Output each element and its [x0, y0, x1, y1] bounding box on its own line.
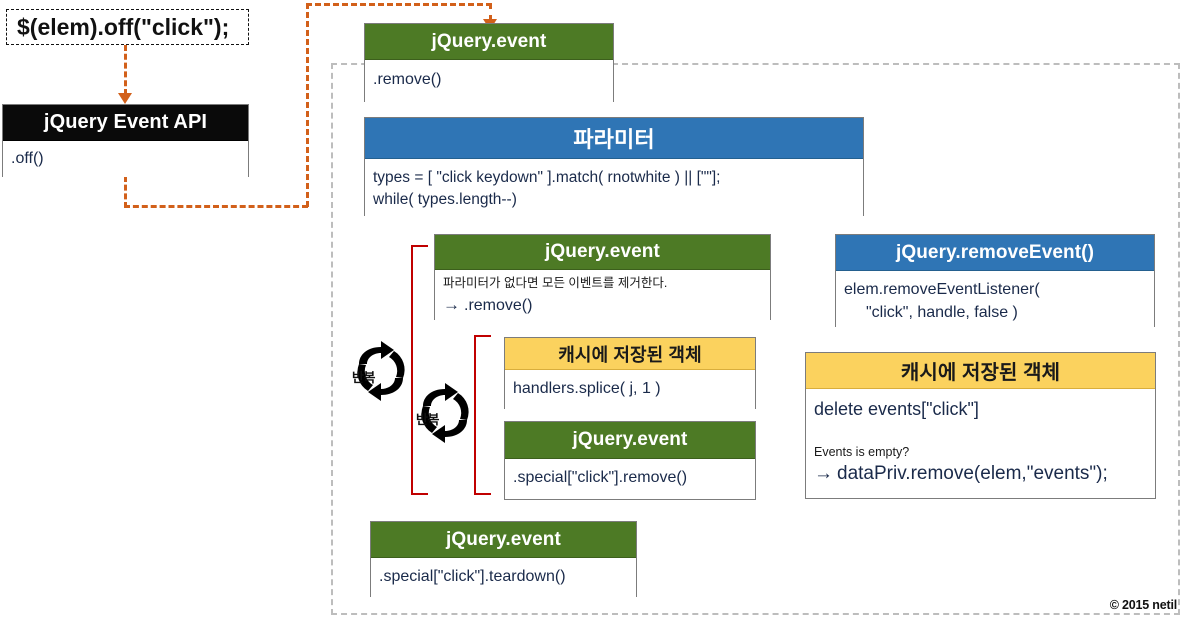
- card-jquery-event-api-title: jQuery Event API: [44, 111, 207, 134]
- card-event-special-remove: jQuery.event .special["click"].remove(): [504, 421, 756, 500]
- card-parameters-title: 파라미터: [573, 122, 654, 154]
- card-event-special-remove-header: jQuery.event: [505, 422, 755, 459]
- card-jquery-event-api-body-text: .off(): [11, 150, 44, 167]
- card-event-special-teardown-title: jQuery.event: [446, 529, 561, 551]
- connector-api-down: [124, 176, 127, 208]
- card-event-remove: jQuery.event .remove(): [364, 23, 614, 102]
- loop-label-outer: 반복: [352, 367, 375, 386]
- card-event-remove-body-text: .remove(): [373, 71, 441, 88]
- card-event-remove-body: .remove(): [365, 60, 613, 102]
- card-parameters-line1: types = [ "click keydown" ].match( rnotw…: [373, 167, 855, 189]
- card-cache-splice-body: handlers.splice( j, 1 ): [505, 370, 755, 410]
- card-cache-delete: 캐시에 저장된 객체 delete events["click"] Events…: [805, 352, 1156, 499]
- card-event-special-remove-body: .special["click"].remove(): [505, 459, 755, 499]
- connector-top-right: [306, 3, 492, 6]
- connector-api-up: [306, 3, 309, 207]
- card-event-special-teardown: jQuery.event .special["click"].teardown(…: [370, 521, 637, 597]
- card-jquery-event-api: jQuery Event API .off(): [2, 104, 249, 177]
- card-event-remove-title: jQuery.event: [432, 31, 547, 53]
- card-cache-delete-title: 캐시에 저장된 객체: [901, 356, 1060, 385]
- card-remove-event: jQuery.removeEvent() elem.removeEventLis…: [835, 234, 1155, 327]
- card-event-no-params-body: 파라미터가 없다면 모든 이벤트를 제거한다. →.remove(): [435, 270, 770, 321]
- card-remove-event-title: jQuery.removeEvent(): [896, 242, 1094, 264]
- loop-bracket-outer: [411, 245, 428, 495]
- loop-icon-inner: 반복: [418, 382, 472, 444]
- arrow-right-icon-2: →: [814, 463, 837, 484]
- card-parameters-body: types = [ "click keydown" ].match( rnotw…: [365, 159, 863, 216]
- card-event-remove-header: jQuery.event: [365, 24, 613, 60]
- code-callout: $(elem).off("click");: [6, 9, 249, 45]
- card-remove-event-line2: "click", handle, false ): [844, 302, 1146, 325]
- card-cache-delete-body: delete events["click"] Events is empty? …: [806, 389, 1155, 498]
- loop-bracket-inner: [474, 335, 491, 495]
- card-parameters-header: 파라미터: [365, 118, 863, 159]
- card-parameters-line2: while( types.length--): [373, 189, 855, 211]
- card-cache-delete-line1: delete events["click"]: [814, 398, 1147, 422]
- card-event-special-remove-body-text: .special["click"].remove(): [513, 469, 687, 486]
- diagram-canvas: $(elem).off("click"); jQuery Event API .…: [0, 0, 1188, 622]
- card-event-special-remove-title: jQuery.event: [573, 429, 688, 451]
- connector-callout-arrowhead: [118, 93, 132, 104]
- card-event-no-params-title: jQuery.event: [545, 241, 660, 263]
- card-jquery-event-api-header: jQuery Event API: [3, 105, 248, 141]
- card-event-no-params-call: .remove(): [464, 297, 532, 314]
- loop-label-inner: 반복: [416, 409, 439, 428]
- card-event-no-params-note: 파라미터가 없다면 모든 이벤트를 제거한다.: [443, 275, 762, 292]
- card-event-special-teardown-body: .special["click"].teardown(): [371, 558, 636, 597]
- card-event-no-params-header: jQuery.event: [435, 235, 770, 270]
- connector-callout-to-api: [124, 45, 127, 95]
- loop-icon-outer: 반복: [354, 340, 408, 402]
- code-callout-text: $(elem).off("click");: [17, 14, 229, 41]
- card-remove-event-body: elem.removeEventListener( "click", handl…: [836, 271, 1154, 328]
- arrow-right-icon: →: [443, 295, 464, 314]
- card-cache-delete-header: 캐시에 저장된 객체: [806, 353, 1155, 389]
- card-event-special-teardown-body-text: .special["click"].teardown(): [379, 568, 566, 585]
- connector-api-right: [124, 205, 308, 208]
- card-remove-event-line1: elem.removeEventListener(: [844, 279, 1146, 302]
- card-event-special-teardown-header: jQuery.event: [371, 522, 636, 558]
- card-event-no-params: jQuery.event 파라미터가 없다면 모든 이벤트를 제거한다. →.r…: [434, 234, 771, 320]
- card-cache-splice: 캐시에 저장된 객체 handlers.splice( j, 1 ): [504, 337, 756, 409]
- card-jquery-event-api-body: .off(): [3, 141, 248, 177]
- card-cache-delete-note: Events is empty?: [814, 444, 1147, 461]
- card-cache-delete-line2: dataPriv.remove(elem,"events");: [837, 463, 1108, 484]
- card-cache-splice-title: 캐시에 저장된 객체: [558, 341, 701, 367]
- card-cache-splice-header: 캐시에 저장된 객체: [505, 338, 755, 370]
- card-cache-splice-body-text: handlers.splice( j, 1 ): [513, 380, 661, 397]
- copyright-text: © 2015 netil: [1110, 598, 1177, 612]
- card-remove-event-header: jQuery.removeEvent(): [836, 235, 1154, 271]
- card-parameters: 파라미터 types = [ "click keydown" ].match( …: [364, 117, 864, 216]
